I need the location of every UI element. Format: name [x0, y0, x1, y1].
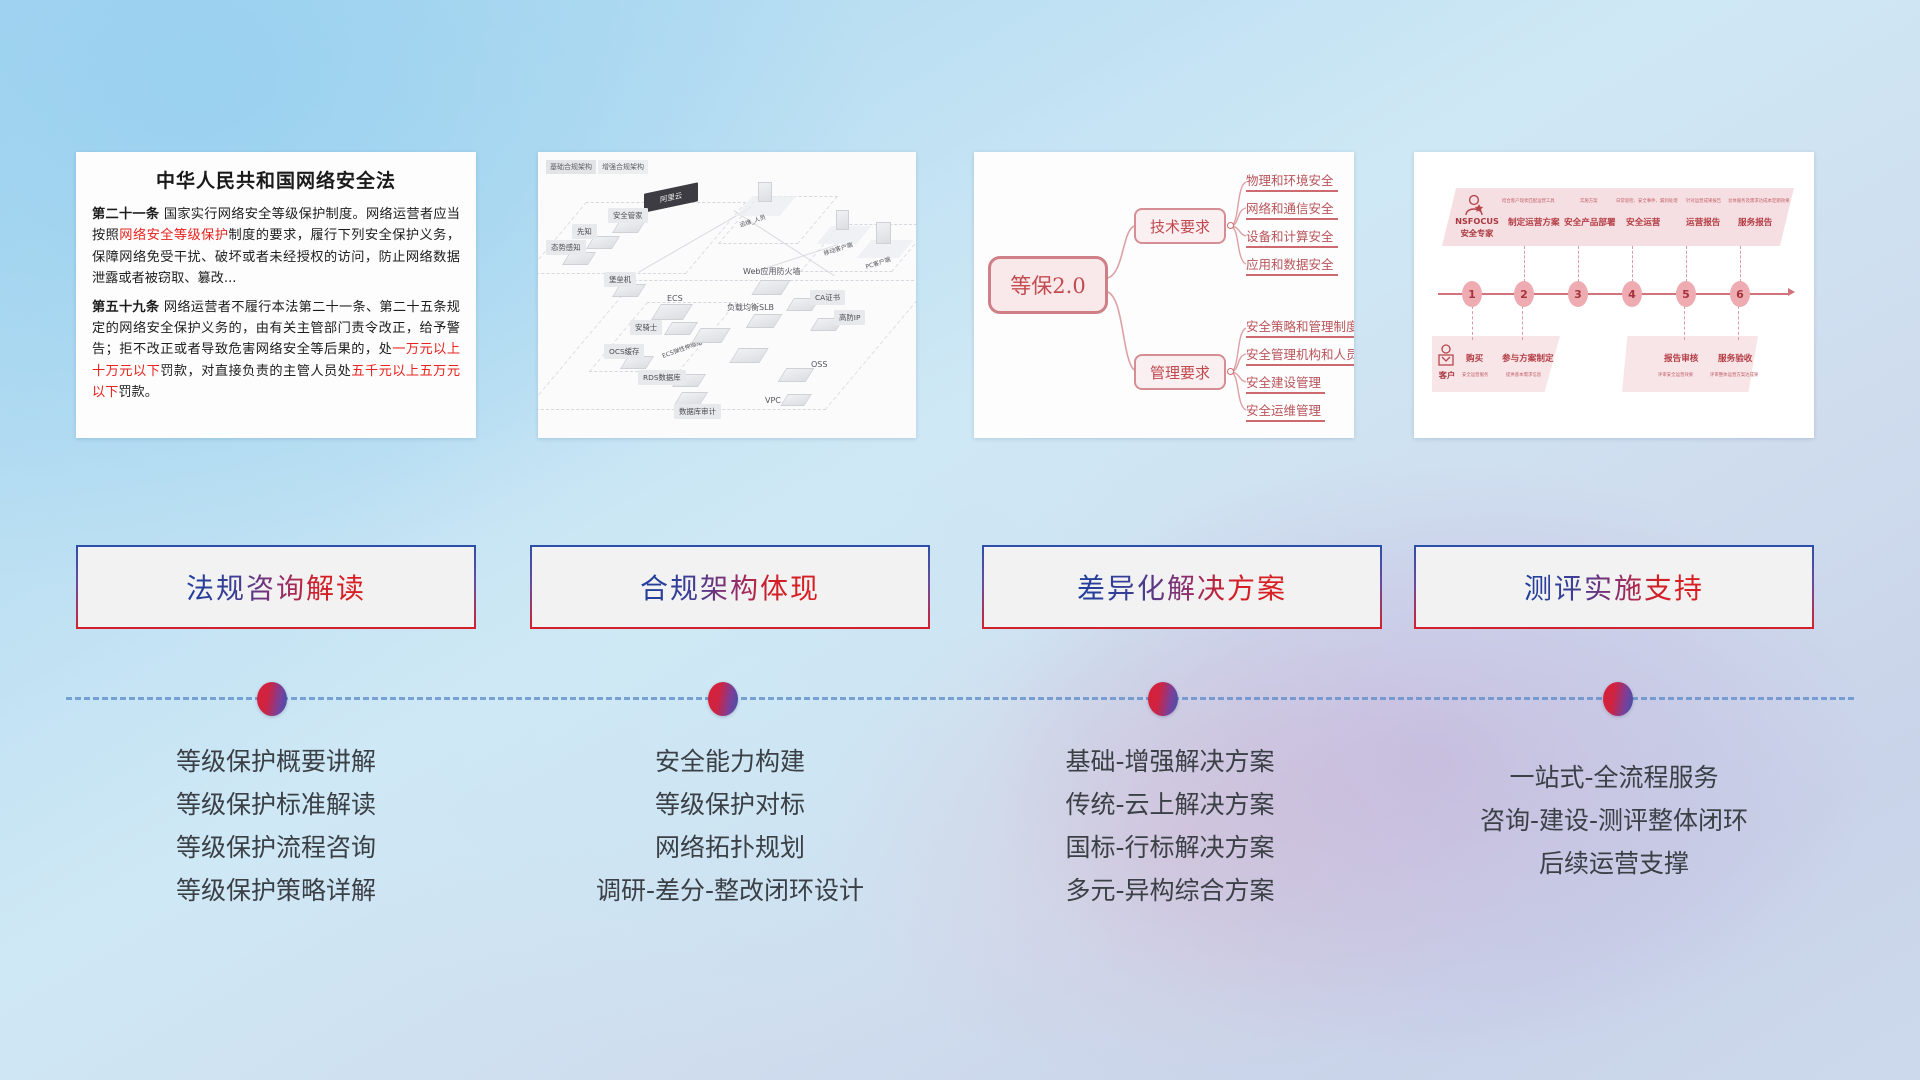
timeline-dot-2[interactable] [708, 682, 738, 716]
timeline-dot-1[interactable] [257, 682, 287, 716]
timeline-dot-4[interactable] [1603, 682, 1633, 716]
pillar-inner-3: 测评实施支持 [1416, 547, 1812, 627]
column-1-item-0: 安全能力构建 [510, 740, 950, 783]
timeline-dashed-line [66, 697, 1854, 700]
pillar-boxes-row: 法规咨询解读 合规架构体现 差异化解决方案 测评实施支持 [0, 0, 1920, 1080]
timeline-dot-3[interactable] [1148, 682, 1178, 716]
pillar-label-0: 法规咨询解读 [186, 567, 366, 607]
column-0-item-3: 等级保护策略详解 [56, 869, 496, 912]
column-2-item-2: 国标-行标解决方案 [950, 826, 1390, 869]
column-2-item-1: 传统-云上解决方案 [950, 783, 1390, 826]
pillar-inner-2: 差异化解决方案 [984, 547, 1380, 627]
column-3-item-0: 一站式-全流程服务 [1394, 756, 1834, 799]
column-1-item-3: 调研-差分-整改闭环设计 [510, 869, 950, 912]
column-0-item-2: 等级保护流程咨询 [56, 826, 496, 869]
bottom-column-2: 基础-增强解决方案 传统-云上解决方案 国标-行标解决方案 多元-异构综合方案 [950, 740, 1390, 912]
pillar-box-assessment-support[interactable]: 测评实施支持 [1414, 545, 1814, 629]
bottom-column-3: 一站式-全流程服务 咨询-建设-测评整体闭环 后续运营支撑 [1394, 756, 1834, 885]
pillar-inner-1: 合规架构体现 [532, 547, 928, 627]
pillar-box-regulation-consulting[interactable]: 法规咨询解读 [76, 545, 476, 629]
column-0-item-1: 等级保护标准解读 [56, 783, 496, 826]
column-2-item-3: 多元-异构综合方案 [950, 869, 1390, 912]
pillar-label-1: 合规架构体现 [640, 567, 820, 607]
column-3-item-2: 后续运营支撑 [1394, 842, 1834, 885]
pillar-label-3: 测评实施支持 [1524, 567, 1704, 607]
column-0-item-0: 等级保护概要讲解 [56, 740, 496, 783]
pillar-box-compliance-architecture[interactable]: 合规架构体现 [530, 545, 930, 629]
bottom-column-1: 安全能力构建 等级保护对标 网络拓扑规划 调研-差分-整改闭环设计 [510, 740, 950, 912]
column-2-item-0: 基础-增强解决方案 [950, 740, 1390, 783]
bottom-column-0: 等级保护概要讲解 等级保护标准解读 等级保护流程咨询 等级保护策略详解 [56, 740, 496, 912]
pillar-label-2: 差异化解决方案 [1077, 567, 1287, 607]
pillar-box-differentiated-solution[interactable]: 差异化解决方案 [982, 545, 1382, 629]
pillar-inner-0: 法规咨询解读 [78, 547, 474, 627]
column-1-item-1: 等级保护对标 [510, 783, 950, 826]
column-3-item-1: 咨询-建设-测评整体闭环 [1394, 799, 1834, 842]
column-1-item-2: 网络拓扑规划 [510, 826, 950, 869]
